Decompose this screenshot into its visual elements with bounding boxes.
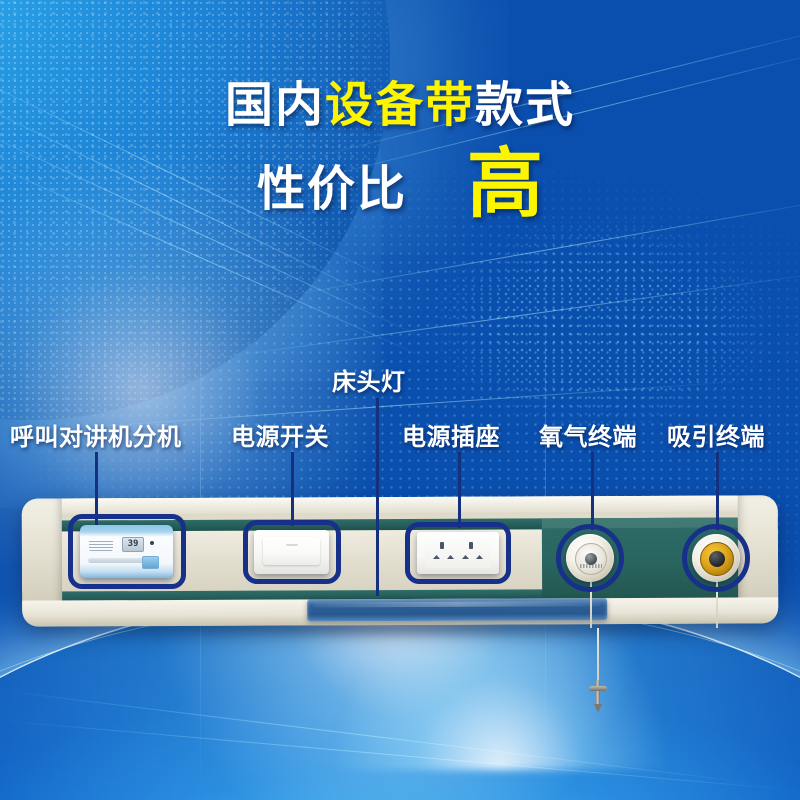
highlight-box-intercom [68, 514, 186, 589]
callout-label-oxygen: 氧气终端 [539, 417, 637, 452]
highlight-box-socket [405, 522, 511, 584]
highlight-circle-suction [682, 524, 750, 592]
callout-label-socket: 电源插座 [402, 417, 500, 452]
poster-canvas: 国内设备带款式 性价比 高 呼叫对讲机分机 电源开关 床头灯 电源插座 氧气终端… [0, 0, 800, 800]
callout-label-intercom: 呼叫对讲机分机 [10, 417, 182, 452]
highlight-circle-oxygen [556, 524, 624, 592]
callout-label-suction: 吸引终端 [667, 417, 765, 452]
callout-label-power-switch: 电源开关 [231, 417, 329, 452]
highlight-box-power-switch [243, 520, 341, 584]
callout-label-bed-lamp: 床头灯 [332, 362, 406, 397]
callout-labels: 呼叫对讲机分机 电源开关 床头灯 电源插座 氧气终端 吸引终端 [0, 0, 800, 800]
